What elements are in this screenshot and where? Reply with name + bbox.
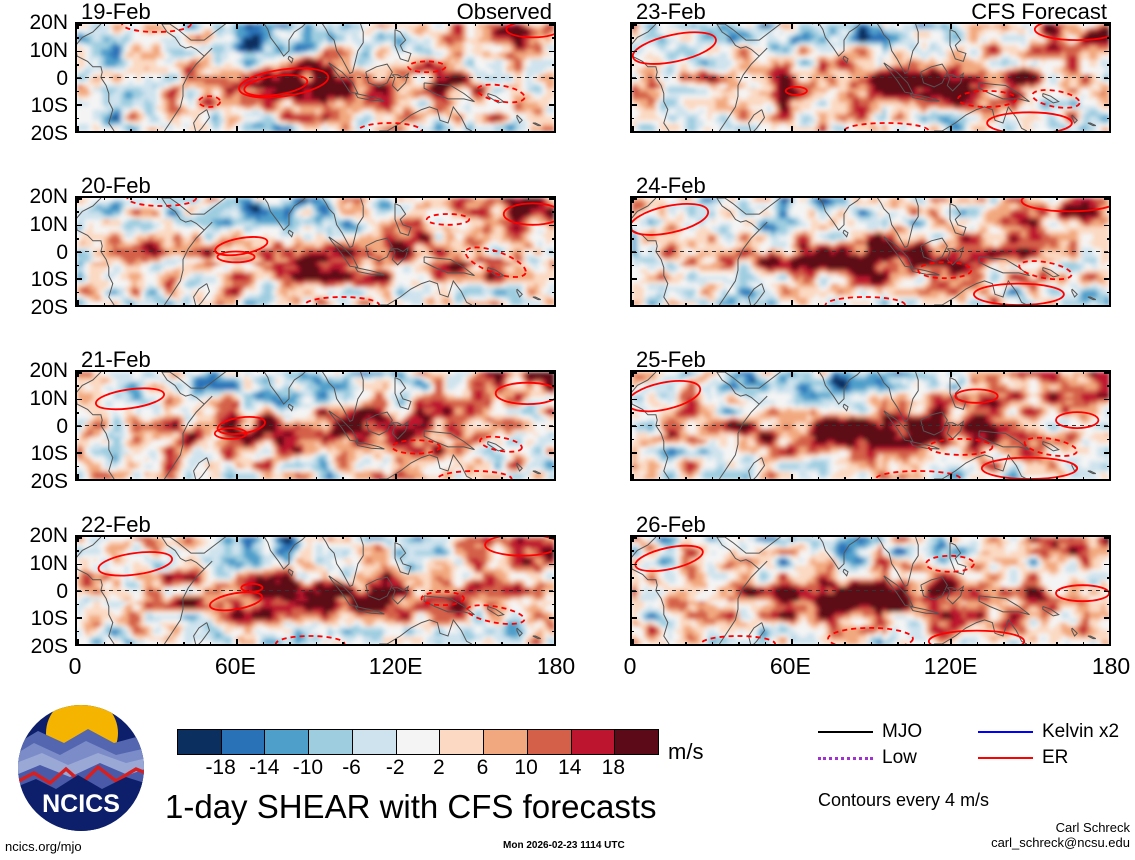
y-tick: [1104, 51, 1111, 53]
x-tick: [422, 129, 424, 133]
x-tick: [528, 22, 530, 26]
x-tick: [950, 300, 952, 307]
x-tick: [316, 303, 318, 307]
x-tick: [316, 642, 318, 646]
y-tick: [1107, 466, 1111, 468]
x-tick: [1030, 129, 1032, 133]
y-tick-20N: 20N: [0, 360, 68, 381]
x-tick: [183, 196, 185, 200]
y-tick-20S: 20S: [0, 471, 68, 492]
x-tick: [950, 639, 952, 646]
y-tick: [549, 104, 556, 106]
y-tick: [75, 64, 79, 66]
colorbar-swatch-6: [440, 730, 484, 754]
x-tick: [263, 129, 265, 133]
shear-field: [632, 198, 1109, 305]
y-tick: [630, 64, 634, 66]
y-tick: [1104, 644, 1111, 646]
y-tick: [1107, 118, 1111, 120]
x-tick: [977, 370, 979, 374]
x-tick: [818, 477, 820, 481]
y-tick: [630, 385, 634, 387]
y-tick: [549, 537, 556, 539]
x-tick: [475, 129, 477, 133]
x-tick: [924, 535, 926, 539]
x-tick: [263, 303, 265, 307]
x-tick: [791, 196, 793, 203]
y-tick: [630, 412, 634, 414]
y-tick: [630, 238, 634, 240]
y-tick: [75, 78, 82, 80]
x-tick: [818, 370, 820, 374]
y-tick: [1107, 292, 1111, 294]
legend-line-kelvin-x2: [978, 731, 1033, 733]
y-tick: [1104, 305, 1111, 307]
legend-line-mjo: [818, 731, 873, 733]
y-tick: [1104, 24, 1111, 26]
y-tick: [1107, 412, 1111, 414]
y-tick: [630, 118, 634, 120]
x-tick: [685, 196, 687, 200]
x-tick: [871, 303, 873, 307]
x-tick: [977, 642, 979, 646]
shear-field: [77, 537, 554, 644]
y-tick: [549, 479, 556, 481]
x-tick: [738, 477, 740, 481]
x-tick: [183, 535, 185, 539]
x-tick: [422, 370, 424, 374]
x-tick: [950, 196, 952, 203]
y-tick: [75, 372, 82, 374]
x-tick: [977, 22, 979, 26]
y-tick: [75, 412, 79, 414]
y-tick: [549, 399, 556, 401]
contour-interval-note: Contours every 4 m/s: [818, 791, 989, 809]
x-tick: [818, 303, 820, 307]
x-tick: [104, 535, 106, 539]
y-tick: [75, 24, 82, 26]
y-tick-10S: 10S: [0, 608, 68, 629]
panel-date-label-25-feb: 25-Feb: [636, 349, 706, 371]
y-tick: [75, 399, 82, 401]
y-tick: [630, 604, 634, 606]
x-tick: [395, 196, 397, 203]
y-tick: [75, 604, 79, 606]
y-tick-20N: 20N: [0, 12, 68, 33]
y-tick: [549, 426, 556, 428]
y-tick: [552, 631, 556, 633]
x-tick: [395, 474, 397, 481]
x-tick: [475, 22, 477, 26]
colorbar-unit-label: m/s: [668, 741, 703, 763]
y-tick-10S: 10S: [0, 95, 68, 116]
x-tick: [316, 196, 318, 200]
y-tick: [75, 37, 79, 39]
x-tick: [1003, 129, 1005, 133]
y-tick: [1107, 604, 1111, 606]
x-tick: [897, 22, 899, 26]
x-tick: [1056, 22, 1058, 26]
x-tick: [871, 642, 873, 646]
x-tick: [183, 642, 185, 646]
x-tick: [528, 196, 530, 200]
y-tick: [552, 37, 556, 39]
y-tick-10N: 10N: [0, 553, 68, 574]
x-tick: [104, 477, 106, 481]
x-tick: [369, 22, 371, 26]
x-tick: [685, 535, 687, 539]
x-tick: [316, 535, 318, 539]
x-tick: [104, 22, 106, 26]
shear-field: [77, 198, 554, 305]
x-tick: [501, 535, 503, 539]
author-email[interactable]: carl_schreck@ncsu.edu: [991, 835, 1130, 850]
y-tick: [75, 211, 79, 213]
y-tick: [552, 577, 556, 579]
x-tick-label-60E: 60E: [195, 655, 275, 678]
map-svg: [632, 24, 1109, 131]
author-name: Carl Schreck: [991, 820, 1130, 835]
y-tick: [552, 466, 556, 468]
x-tick: [659, 535, 661, 539]
x-tick: [977, 196, 979, 200]
x-tick: [738, 129, 740, 133]
y-tick-0: 0: [0, 416, 68, 437]
y-tick: [549, 591, 556, 593]
x-tick: [369, 642, 371, 646]
x-tick: [210, 129, 212, 133]
x-tick: [475, 303, 477, 307]
x-tick: [528, 303, 530, 307]
y-tick: [630, 198, 637, 200]
x-tick: [685, 477, 687, 481]
y-tick: [549, 198, 556, 200]
x-tick: [210, 642, 212, 646]
y-tick-20N: 20N: [0, 186, 68, 207]
y-tick-0: 0: [0, 68, 68, 89]
x-tick: [316, 477, 318, 481]
colorbar-swatch-5: [397, 730, 441, 754]
y-tick: [75, 118, 79, 120]
x-tick: [501, 129, 503, 133]
y-tick: [75, 479, 82, 481]
map-svg: [77, 372, 554, 479]
x-tick: [236, 22, 238, 29]
x-tick: [289, 129, 291, 133]
y-tick-20N: 20N: [0, 525, 68, 546]
x-tick: [528, 129, 530, 133]
site-url[interactable]: ncics.org/mjo: [5, 840, 82, 853]
map-panel-19-feb: [75, 22, 556, 133]
y-tick: [1104, 225, 1111, 227]
x-tick: [844, 642, 846, 646]
y-tick: [1104, 104, 1111, 106]
x-tick: [448, 196, 450, 200]
x-tick: [342, 477, 344, 481]
ncics-logo-svg: NCICS: [16, 703, 146, 833]
x-tick: [897, 642, 899, 646]
y-tick: [549, 252, 556, 254]
x-tick: [765, 303, 767, 307]
x-tick: [210, 477, 212, 481]
y-tick: [552, 604, 556, 606]
x-tick: [448, 303, 450, 307]
colorbar-swatch-8: [528, 730, 572, 754]
x-tick: [369, 535, 371, 539]
map-panel-25-feb: [630, 370, 1111, 481]
y-tick: [552, 118, 556, 120]
x-tick: [871, 129, 873, 133]
y-tick: [552, 238, 556, 240]
y-tick-10N: 10N: [0, 214, 68, 235]
x-tick: [342, 535, 344, 539]
x-tick: [263, 22, 265, 26]
x-tick: [236, 474, 238, 481]
x-tick: [897, 303, 899, 307]
y-tick: [630, 452, 637, 454]
x-tick: [183, 303, 185, 307]
x-tick: [104, 370, 106, 374]
x-tick: [1003, 303, 1005, 307]
author-credit: Carl Schreck carl_schreck@ncsu.edu: [991, 820, 1130, 850]
x-tick: [844, 129, 846, 133]
x-tick: [871, 535, 873, 539]
x-tick: [342, 303, 344, 307]
x-tick: [924, 22, 926, 26]
x-tick: [950, 370, 952, 377]
x-tick: [448, 535, 450, 539]
y-tick: [630, 305, 637, 307]
x-tick: [818, 129, 820, 133]
map-svg: [77, 24, 554, 131]
x-tick: [157, 370, 159, 374]
x-tick: [236, 196, 238, 203]
y-tick: [630, 24, 637, 26]
y-tick: [1104, 617, 1111, 619]
y-tick: [1107, 265, 1111, 267]
x-tick: [501, 196, 503, 200]
x-tick: [157, 129, 159, 133]
y-tick: [1104, 252, 1111, 254]
y-tick: [549, 564, 556, 566]
y-tick: [1104, 198, 1111, 200]
x-tick: [659, 196, 661, 200]
x-tick: [289, 642, 291, 646]
y-tick: [1104, 426, 1111, 428]
x-tick: [765, 370, 767, 374]
x-tick: [897, 196, 899, 200]
y-tick: [75, 265, 79, 267]
y-tick: [1104, 591, 1111, 593]
x-tick: [897, 370, 899, 374]
x-tick: [130, 477, 132, 481]
x-tick: [1083, 535, 1085, 539]
x-tick: [1030, 477, 1032, 481]
x-tick: [475, 370, 477, 374]
x-tick: [448, 477, 450, 481]
map-panel-23-feb: [630, 22, 1111, 133]
x-tick: [791, 370, 793, 377]
x-tick: [659, 642, 661, 646]
x-tick: [475, 642, 477, 646]
y-tick: [1107, 550, 1111, 552]
y-tick: [1107, 631, 1111, 633]
x-tick: [685, 129, 687, 133]
y-tick: [630, 372, 637, 374]
y-tick-10N: 10N: [0, 388, 68, 409]
x-tick: [342, 642, 344, 646]
x-tick: [369, 196, 371, 200]
x-tick: [738, 370, 740, 374]
x-tick: [765, 642, 767, 646]
y-tick: [549, 225, 556, 227]
x-tick: [712, 196, 714, 200]
x-tick: [236, 639, 238, 646]
y-tick-20S: 20S: [0, 636, 68, 657]
y-tick: [630, 104, 637, 106]
panel-date-label-21-feb: 21-Feb: [81, 349, 151, 371]
y-tick: [552, 412, 556, 414]
x-tick-label-0: 0: [590, 655, 670, 678]
x-tick-label-180: 180: [516, 655, 596, 678]
y-tick: [552, 64, 556, 66]
y-tick: [552, 265, 556, 267]
colorbar-swatch-4: [353, 730, 397, 754]
x-tick: [210, 303, 212, 307]
x-tick: [897, 535, 899, 539]
map-panel-26-feb: [630, 535, 1111, 646]
x-tick: [1056, 642, 1058, 646]
x-tick: [475, 535, 477, 539]
colorbar: [177, 729, 659, 755]
x-tick: [263, 477, 265, 481]
x-tick: [844, 196, 846, 200]
x-tick: [1030, 303, 1032, 307]
x-tick: [712, 303, 714, 307]
y-tick: [549, 51, 556, 53]
y-tick: [1104, 399, 1111, 401]
y-tick: [75, 225, 82, 227]
x-tick: [1030, 196, 1032, 200]
y-tick: [549, 24, 556, 26]
x-tick: [395, 535, 397, 542]
x-tick: [157, 303, 159, 307]
y-tick: [1107, 439, 1111, 441]
y-tick: [552, 211, 556, 213]
x-tick: [844, 303, 846, 307]
x-tick: [844, 477, 846, 481]
x-tick: [1083, 477, 1085, 481]
y-tick: [1107, 385, 1111, 387]
y-tick: [630, 399, 637, 401]
y-tick: [75, 131, 82, 133]
x-tick: [448, 129, 450, 133]
y-tick: [1107, 64, 1111, 66]
x-tick: [183, 477, 185, 481]
y-tick: [75, 577, 79, 579]
x-tick: [818, 22, 820, 26]
y-tick-10S: 10S: [0, 269, 68, 290]
x-tick: [659, 370, 661, 374]
x-tick: [157, 22, 159, 26]
x-tick: [950, 22, 952, 29]
x-tick: [950, 126, 952, 133]
ncics-logo[interactable]: NCICS: [16, 703, 146, 833]
x-tick: [157, 477, 159, 481]
x-tick: [897, 477, 899, 481]
x-tick: [236, 300, 238, 307]
x-tick: [183, 129, 185, 133]
x-tick: [977, 129, 979, 133]
y-tick-0: 0: [0, 581, 68, 602]
y-tick: [630, 439, 634, 441]
y-tick: [630, 479, 637, 481]
y-tick: [75, 564, 82, 566]
x-tick: [210, 22, 212, 26]
x-tick: [844, 22, 846, 26]
map-panel-24-feb: [630, 196, 1111, 307]
x-tick-label-180: 180: [1071, 655, 1135, 678]
y-tick: [75, 385, 79, 387]
x-tick: [712, 642, 714, 646]
x-tick: [977, 477, 979, 481]
x-tick: [342, 129, 344, 133]
map-svg: [632, 372, 1109, 479]
x-tick: [289, 303, 291, 307]
y-tick: [630, 211, 634, 213]
x-tick: [818, 196, 820, 200]
x-tick: [369, 370, 371, 374]
y-tick: [630, 644, 637, 646]
y-tick: [75, 466, 79, 468]
x-tick-label-120E: 120E: [911, 655, 991, 678]
x-tick: [791, 535, 793, 542]
y-tick: [75, 537, 82, 539]
colorbar-swatch-1: [222, 730, 266, 754]
y-tick-20S: 20S: [0, 123, 68, 144]
y-tick: [630, 225, 637, 227]
x-tick: [950, 474, 952, 481]
y-tick: [549, 372, 556, 374]
legend-line-er: [978, 757, 1033, 759]
x-tick: [659, 477, 661, 481]
panel-date-label-26-feb: 26-Feb: [636, 514, 706, 536]
x-tick: [104, 642, 106, 646]
x-tick: [844, 535, 846, 539]
x-tick: [1003, 535, 1005, 539]
map-svg: [77, 537, 554, 644]
y-tick: [75, 631, 79, 633]
y-tick: [75, 305, 82, 307]
x-tick: [924, 303, 926, 307]
x-tick: [977, 303, 979, 307]
x-tick: [130, 535, 132, 539]
x-tick: [130, 196, 132, 200]
colorbar-swatch-0: [178, 730, 222, 754]
x-tick: [871, 22, 873, 26]
x-tick: [289, 196, 291, 200]
map-svg: [77, 198, 554, 305]
x-tick: [897, 129, 899, 133]
x-tick: [316, 22, 318, 26]
x-tick: [950, 535, 952, 542]
y-tick: [1107, 238, 1111, 240]
y-tick: [630, 466, 634, 468]
x-tick: [422, 22, 424, 26]
x-tick: [791, 300, 793, 307]
x-tick: [1083, 370, 1085, 374]
x-tick: [104, 129, 106, 133]
